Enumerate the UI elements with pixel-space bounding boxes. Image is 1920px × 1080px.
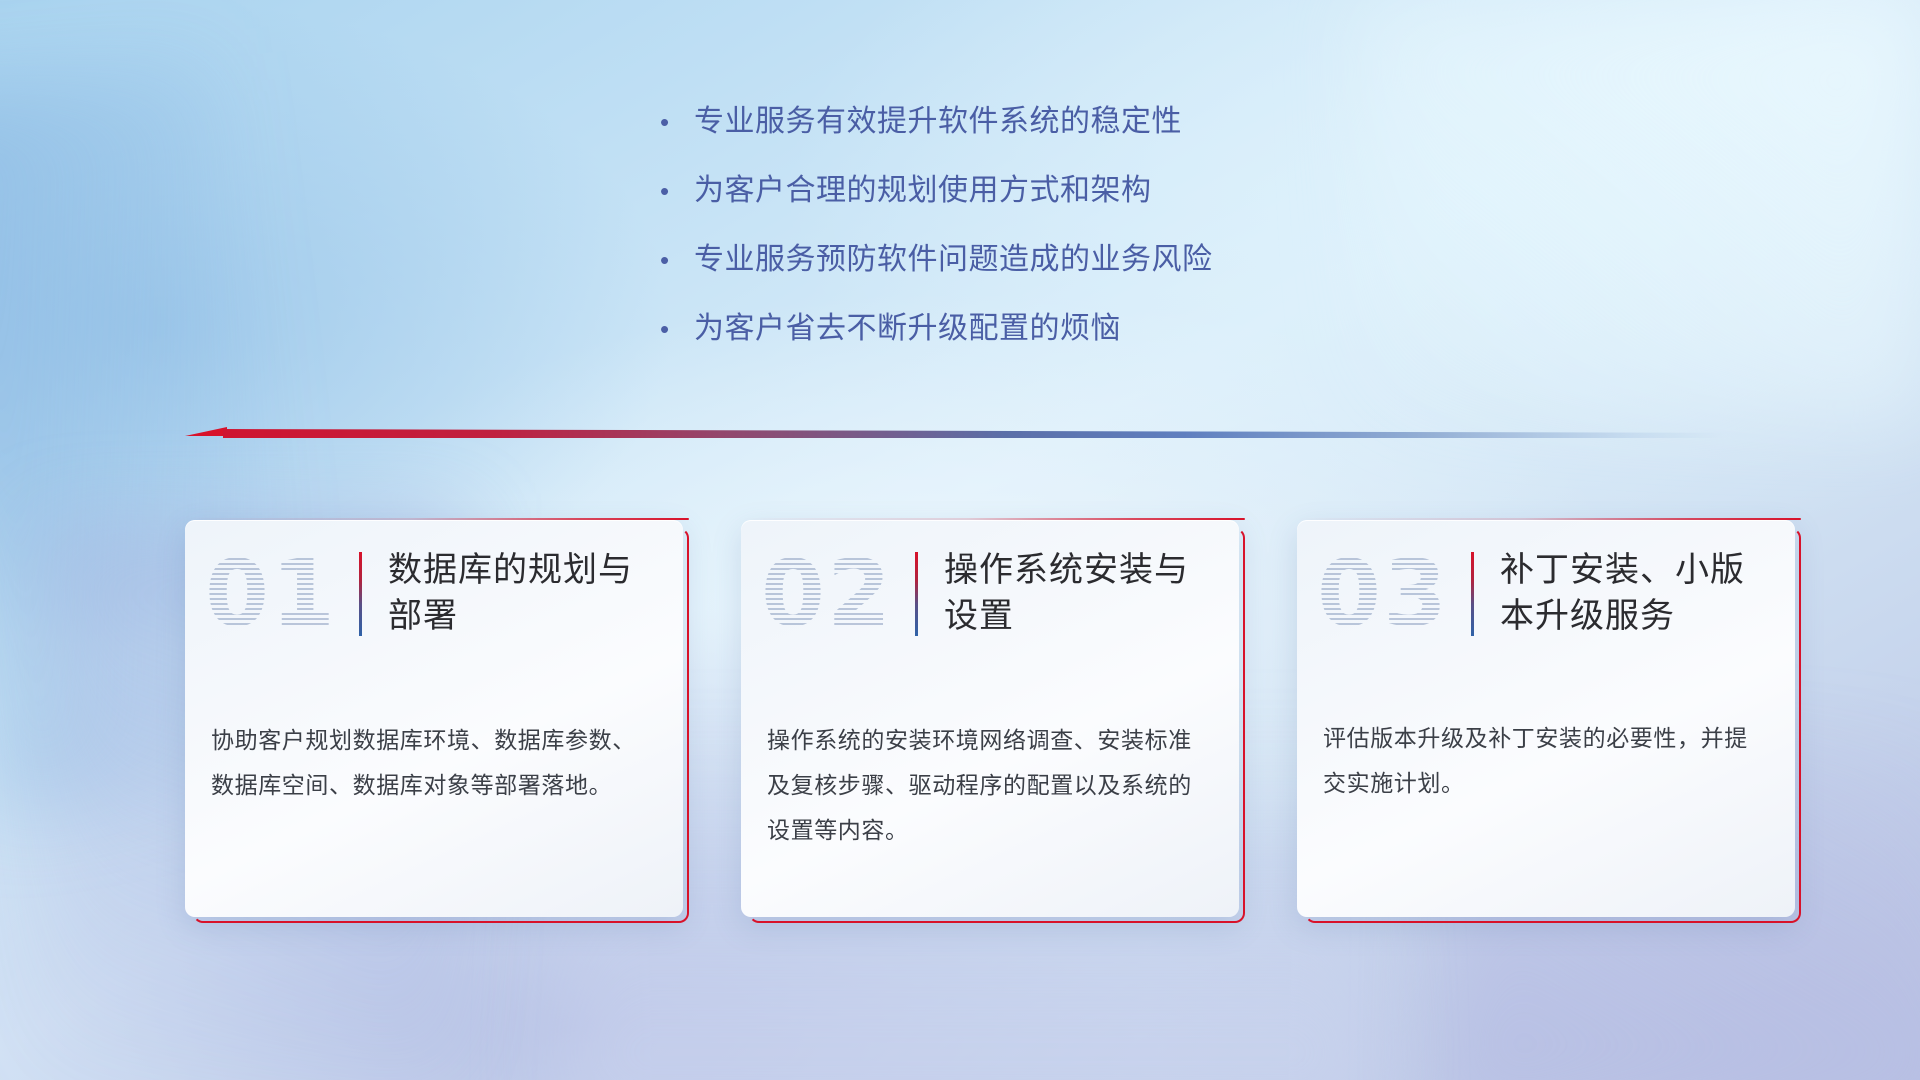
service-card-group: 01 数据库的规划与部署 协助客户规划数据库环境、数据库参数、数据库空间、数据库… xyxy=(185,520,1795,917)
card-header: 01 数据库的规划与部署 xyxy=(185,548,657,640)
card-title: 操作系统安装与设置 xyxy=(944,548,1213,640)
card-divider-icon xyxy=(1471,552,1474,636)
bullet-text: 专业服务预防软件问题造成的业务风险 xyxy=(694,242,1213,278)
card-index-number: 03 xyxy=(1297,548,1469,640)
divider-lead-wedge xyxy=(185,427,227,436)
list-item: • 为客户合理的规划使用方式和架构 xyxy=(660,173,1420,209)
list-item: • 专业服务有效提升软件系统的稳定性 xyxy=(660,104,1420,140)
divider-gradient-bar xyxy=(223,429,1725,438)
service-card[interactable]: 01 数据库的规划与部署 协助客户规划数据库环境、数据库参数、数据库空间、数据库… xyxy=(185,520,683,917)
bullet-dot-icon: • xyxy=(660,247,694,273)
section-divider xyxy=(185,427,1725,443)
card-body-text: 评估版本升级及补丁安装的必要性，并提交实施计划。 xyxy=(1323,716,1769,806)
card-top-accent xyxy=(1297,518,1801,520)
card-title: 补丁安装、小版本升级服务 xyxy=(1500,548,1769,640)
card-header: 02 操作系统安装与设置 xyxy=(741,548,1213,640)
slide-canvas: • 专业服务有效提升软件系统的稳定性 • 为客户合理的规划使用方式和架构 • 专… xyxy=(0,0,1920,1080)
card-body-text: 操作系统的安装环境网络调查、安装标准及复核步骤、驱动程序的配置以及系统的设置等内… xyxy=(767,718,1213,853)
bullet-dot-icon: • xyxy=(660,109,694,135)
background-streak-3 xyxy=(1360,0,1920,420)
card-body-text: 协助客户规划数据库环境、数据库参数、数据库空间、数据库对象等部署落地。 xyxy=(211,718,657,808)
card-index-number: 01 xyxy=(185,548,357,640)
bullet-dot-icon: • xyxy=(660,178,694,204)
list-item: • 为客户省去不断升级配置的烦恼 xyxy=(660,311,1420,347)
benefits-bullet-list: • 专业服务有效提升软件系统的稳定性 • 为客户合理的规划使用方式和架构 • 专… xyxy=(660,104,1420,380)
card-index-number: 02 xyxy=(741,548,913,640)
card-title: 数据库的规划与部署 xyxy=(388,548,657,640)
list-item: • 专业服务预防软件问题造成的业务风险 xyxy=(660,242,1420,278)
card-divider-icon xyxy=(915,552,918,636)
service-card[interactable]: 03 补丁安装、小版本升级服务 评估版本升级及补丁安装的必要性，并提交实施计划。 xyxy=(1297,520,1795,917)
bullet-text: 专业服务有效提升软件系统的稳定性 xyxy=(694,104,1182,140)
card-top-accent xyxy=(741,518,1245,520)
bullet-text: 为客户省去不断升级配置的烦恼 xyxy=(694,311,1121,347)
card-header: 03 补丁安装、小版本升级服务 xyxy=(1297,548,1769,640)
bullet-text: 为客户合理的规划使用方式和架构 xyxy=(694,173,1152,209)
bullet-dot-icon: • xyxy=(660,316,694,342)
card-top-accent xyxy=(185,518,689,520)
service-card[interactable]: 02 操作系统安装与设置 操作系统的安装环境网络调查、安装标准及复核步骤、驱动程… xyxy=(741,520,1239,917)
card-divider-icon xyxy=(359,552,362,636)
